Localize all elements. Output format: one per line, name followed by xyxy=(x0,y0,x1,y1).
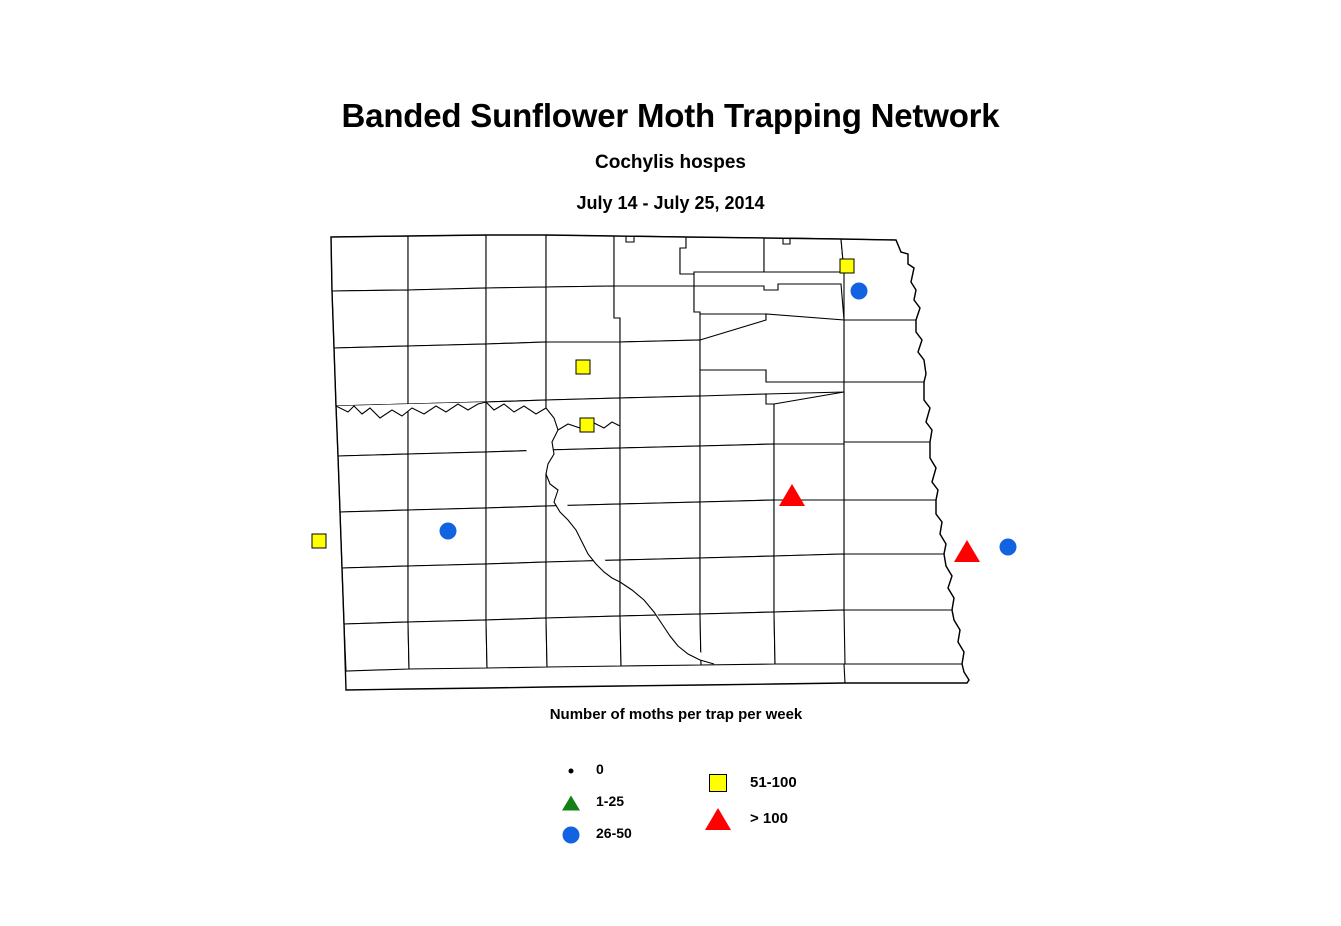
map-svg xyxy=(296,228,1056,698)
trap-marker-site-4[interactable] xyxy=(580,418,595,433)
circle-blue-icon xyxy=(1000,539,1017,556)
map-page: Banded Sunflower Moth Trapping Network C… xyxy=(0,0,1341,926)
square-yellow-icon xyxy=(580,418,595,433)
county-boundaries xyxy=(331,235,969,683)
square-yellow-icon xyxy=(698,768,738,798)
circle-blue-icon xyxy=(554,822,588,848)
legend-label-26-50: 26-50 xyxy=(596,825,632,841)
north-dakota-map xyxy=(296,228,1056,698)
trap-marker-site-8[interactable] xyxy=(954,540,980,562)
circle-blue-icon xyxy=(851,283,868,300)
legend-label-zero: 0 xyxy=(596,761,604,777)
trap-marker-site-3[interactable] xyxy=(576,360,591,375)
triangle-red-icon xyxy=(698,804,738,834)
title-block: Banded Sunflower Moth Trapping Network C… xyxy=(0,96,1341,216)
date-range: July 14 - July 25, 2014 xyxy=(0,190,1341,216)
legend-label-1-25: 1-25 xyxy=(596,793,624,809)
square-yellow-icon xyxy=(840,259,855,274)
page-title: Banded Sunflower Moth Trapping Network xyxy=(0,96,1341,136)
triangle-red-icon xyxy=(954,540,980,562)
triangle-red-icon xyxy=(779,484,805,506)
legend-title: Number of moths per trap per week xyxy=(296,706,1056,723)
trap-marker-site-1[interactable] xyxy=(840,259,855,274)
legend-label-over-100: > 100 xyxy=(750,810,788,827)
species-name: Cochylis hospes xyxy=(0,150,1341,176)
legend-label-51-100: 51-100 xyxy=(750,774,797,791)
trap-marker-site-5[interactable] xyxy=(779,484,805,506)
square-yellow-icon xyxy=(312,534,327,549)
legend: Number of moths per trap per week 0 1-25… xyxy=(296,706,1056,866)
trap-marker-site-7[interactable] xyxy=(440,523,457,540)
trap-marker-site-6[interactable] xyxy=(312,534,327,549)
circle-blue-icon xyxy=(440,523,457,540)
square-yellow-icon xyxy=(576,360,591,375)
trap-marker-site-9[interactable] xyxy=(1000,539,1017,556)
trap-marker-site-2[interactable] xyxy=(851,283,868,300)
dot-black-icon xyxy=(554,758,588,784)
triangle-green-icon xyxy=(554,790,588,816)
